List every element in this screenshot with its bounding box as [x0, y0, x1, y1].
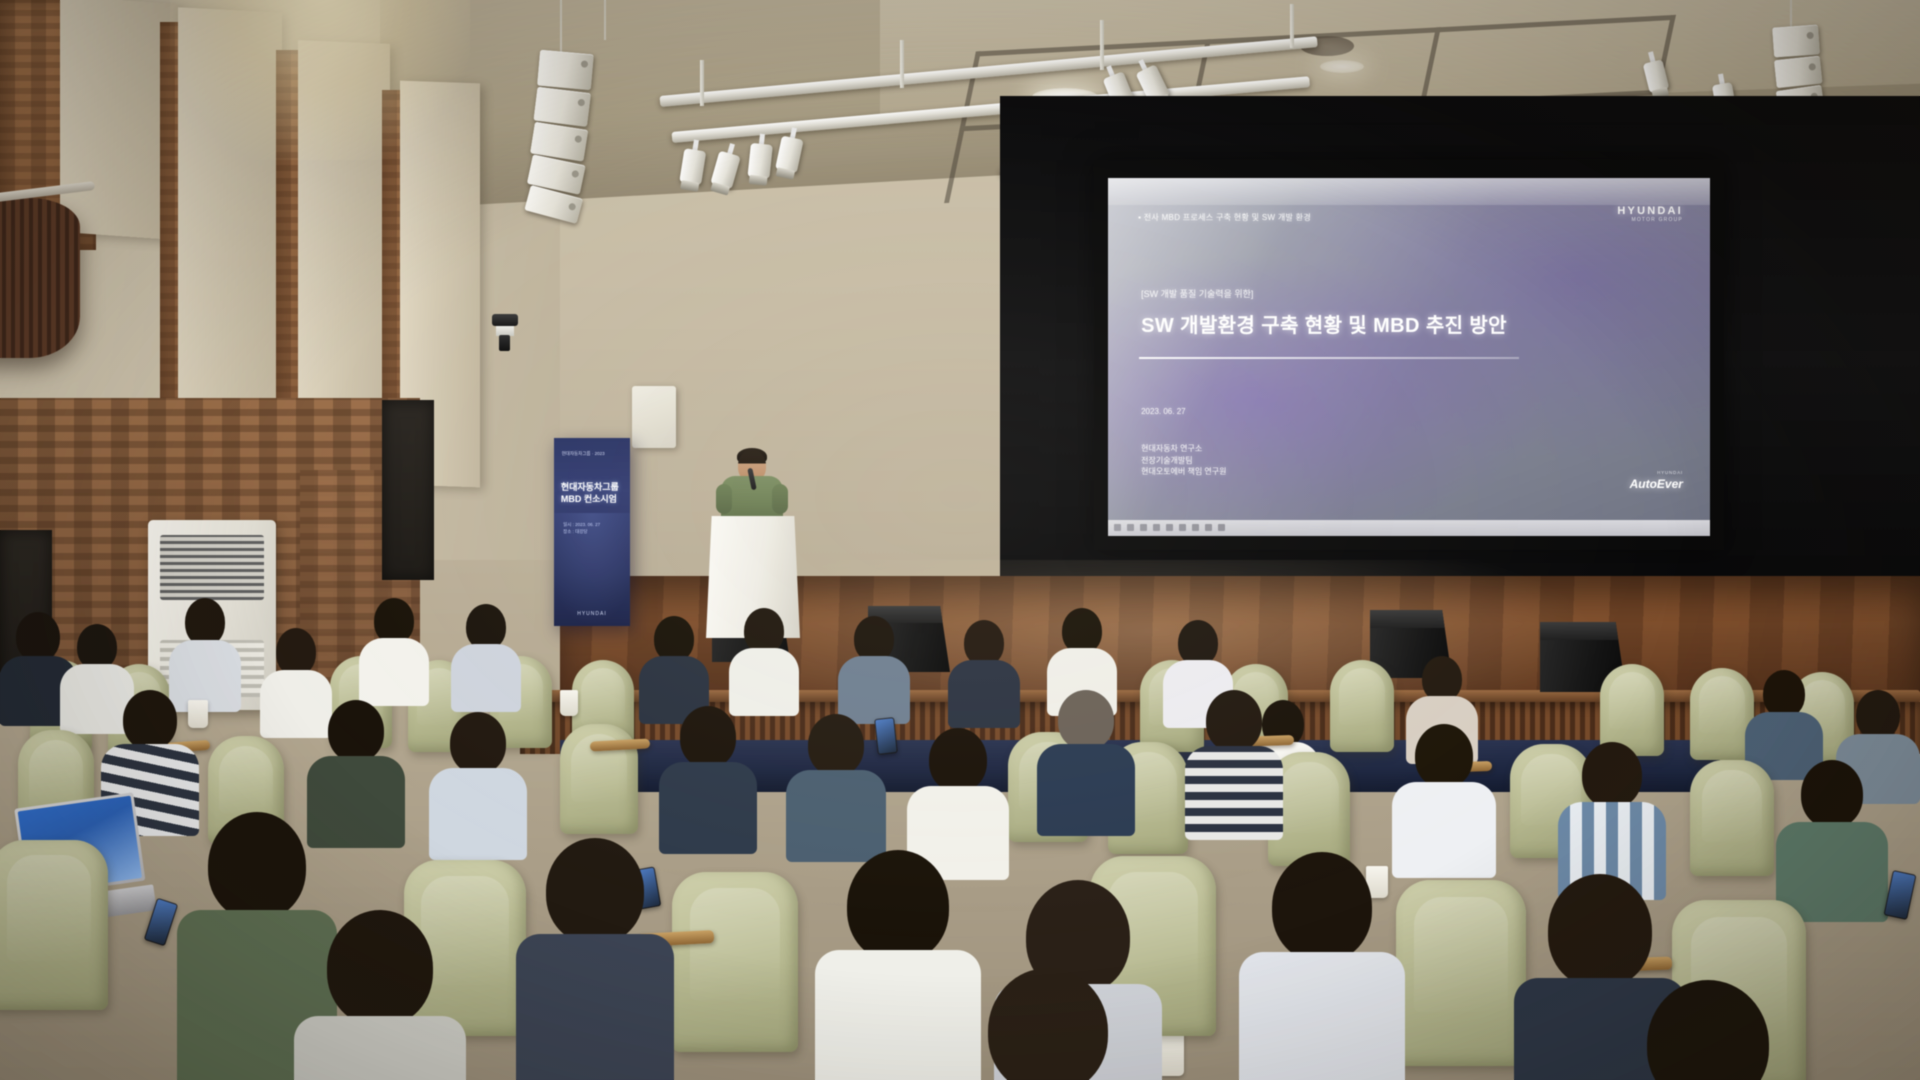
- person-head: [546, 838, 644, 944]
- audience-member: [662, 706, 754, 846]
- audience-phone[interactable]: [874, 717, 898, 755]
- person-body: [516, 934, 674, 1080]
- spotlight-lens-icon: [749, 175, 768, 186]
- audience-member: [300, 910, 460, 1080]
- person-body: [451, 644, 521, 712]
- audience-member: [432, 712, 524, 852]
- slide-date: 2023. 06. 27: [1141, 407, 1185, 416]
- slide-title: SW 개발환경 구축 현황 및 MBD 추진 방안: [1141, 309, 1507, 338]
- seat[interactable]: [1330, 660, 1394, 752]
- person-head: [1647, 980, 1769, 1080]
- slide-divider: [1139, 357, 1518, 359]
- seat[interactable]: [1396, 880, 1526, 1066]
- person-head: [929, 728, 987, 792]
- audience-member: [1620, 980, 1796, 1080]
- audience-member: [1244, 852, 1400, 1080]
- presenter-arm-left: [716, 484, 732, 514]
- audience-member: [730, 608, 798, 716]
- person-head: [1548, 874, 1652, 988]
- person-head: [1856, 690, 1900, 740]
- taskbar-icon[interactable]: [1179, 524, 1186, 531]
- projection-screen-frame: ▪ 전사 MBD 프로세스 구축 현황 및 SW 개발 환경 [SW 개발 품질…: [1094, 160, 1724, 550]
- slide-top-band: [1108, 178, 1710, 205]
- person-body: [786, 770, 886, 862]
- projection-screen[interactable]: ▪ 전사 MBD 프로세스 구축 현황 및 SW 개발 환경 [SW 개발 품질…: [1108, 178, 1710, 536]
- hyundai-logo-sub: MOTOR GROUP: [1617, 217, 1683, 223]
- speaker-module: [533, 87, 591, 127]
- banner-eyebrow: 현대자동차그룹 · 2023: [562, 451, 605, 458]
- truss-drop-rod: [900, 40, 904, 88]
- hyundai-logo-mark: HYUNDAI: [1617, 205, 1683, 217]
- audience-member: [1040, 690, 1132, 830]
- slide-kicker: [SW 개발 품질 기술력을 위한]: [1141, 287, 1253, 300]
- person-body: [1185, 746, 1283, 840]
- seat[interactable]: [672, 872, 798, 1052]
- person-body: [948, 660, 1020, 728]
- hyundai-logo: HYUNDAI MOTOR GROUP: [1617, 205, 1683, 223]
- drink-cup: [188, 700, 208, 728]
- audience-member: [840, 616, 908, 724]
- camera-body: [492, 314, 518, 326]
- spotlight-lens-icon: [680, 180, 699, 192]
- acoustic-panel: [178, 7, 282, 442]
- person-head: [680, 706, 736, 768]
- speaker-suspension-wire: [604, 0, 606, 40]
- taskbar-icon[interactable]: [1166, 524, 1173, 531]
- person-head: [1801, 760, 1863, 828]
- slide-header-line: ▪ 전사 MBD 프로세스 구축 현황 및 SW 개발 환경: [1138, 212, 1311, 223]
- speaker-module: [537, 50, 594, 91]
- audience-member: [790, 714, 882, 854]
- truss-drop-rod: [1290, 4, 1294, 48]
- person-body: [1037, 744, 1135, 836]
- recessed-ceiling-light: [1320, 60, 1364, 73]
- person-head: [847, 850, 949, 962]
- audience-member: [1396, 724, 1492, 872]
- balcony: [0, 198, 80, 358]
- person-head: [988, 968, 1108, 1080]
- seat[interactable]: [0, 840, 108, 1010]
- presentation-slide: ▪ 전사 MBD 프로세스 구축 현황 및 SW 개발 환경 [SW 개발 품질…: [1108, 178, 1710, 536]
- person-body: [294, 1016, 466, 1080]
- person-head: [1582, 742, 1642, 808]
- taskbar-icon[interactable]: [1153, 524, 1160, 531]
- seat[interactable]: [1690, 760, 1774, 876]
- truss-drop-rod: [700, 60, 704, 106]
- person-head: [450, 712, 506, 774]
- person-head: [1272, 852, 1372, 962]
- ac-grille: [160, 535, 265, 600]
- slide-organization: 현대자동차 연구소 전장기술개발팀 현대오토에버 책임 연구원: [1141, 443, 1226, 478]
- auditorium-photo: ▪ 전사 MBD 프로세스 구축 현황 및 SW 개발 환경 [SW 개발 품질…: [0, 0, 1920, 1080]
- wall-camera: [492, 314, 522, 354]
- autoever-logo: HYUNDAI AutoEver: [1630, 470, 1683, 493]
- person-head: [276, 628, 316, 676]
- audience-member: [1188, 690, 1280, 834]
- side-door[interactable]: [382, 400, 434, 580]
- truss-drop-rod: [1100, 20, 1104, 70]
- autoever-logo-sup: HYUNDAI: [1630, 470, 1683, 475]
- person-body: [429, 768, 527, 860]
- banner-title: 현대자동차그룹 MBD 컨소시엄: [561, 481, 626, 505]
- taskbar-icon[interactable]: [1205, 524, 1212, 531]
- speaker-module: [1774, 56, 1823, 89]
- taskbar-icon[interactable]: [1114, 524, 1121, 531]
- person-head: [327, 910, 433, 1026]
- person-head: [16, 612, 60, 662]
- audience-member: [452, 604, 520, 712]
- person-head: [328, 700, 384, 762]
- person-body: [1239, 952, 1405, 1080]
- person-head: [185, 598, 225, 646]
- speaker-module: [1772, 24, 1820, 57]
- person-head: [208, 812, 306, 920]
- audience-member: [950, 620, 1018, 728]
- person-head: [1206, 690, 1262, 752]
- taskbar-icon[interactable]: [1127, 524, 1134, 531]
- banner-footer-logo: HYUNDAI: [554, 611, 630, 617]
- person-head: [808, 714, 864, 776]
- taskbar-icon[interactable]: [1140, 524, 1147, 531]
- camera-lens-icon: [499, 335, 510, 351]
- autoever-logo-mark: AutoEver: [1630, 477, 1683, 491]
- drink-cup: [560, 690, 578, 716]
- audience-member: [360, 598, 428, 706]
- person-body: [815, 950, 981, 1080]
- banner-meta: 일시 : 2023. 06. 27 장소 : 대강당: [563, 521, 600, 536]
- windows-taskbar[interactable]: [1108, 520, 1710, 536]
- taskbar-icon[interactable]: [1192, 524, 1199, 531]
- person-body: [659, 762, 757, 854]
- audience-member: [820, 850, 976, 1080]
- person-head: [123, 690, 177, 750]
- person-head: [1415, 724, 1473, 788]
- speaker-suspension-wire: [560, 0, 562, 58]
- person-head: [1763, 670, 1805, 718]
- spotlight-body: [747, 143, 772, 179]
- event-banner-standee: 현대자동차그룹 · 2023 현대자동차그룹 MBD 컨소시엄 일시 : 202…: [554, 438, 630, 626]
- wall-plaque: [632, 386, 676, 448]
- audience-member: [1562, 742, 1662, 894]
- audience-member: [520, 838, 670, 1080]
- taskbar-icon[interactable]: [1218, 524, 1225, 531]
- person-body: [1392, 782, 1496, 878]
- person-head: [1058, 690, 1114, 750]
- audience-member: [1780, 760, 1884, 916]
- audience-member: [960, 968, 1136, 1080]
- presenter-arm-right: [772, 484, 788, 514]
- person-body: [359, 638, 429, 706]
